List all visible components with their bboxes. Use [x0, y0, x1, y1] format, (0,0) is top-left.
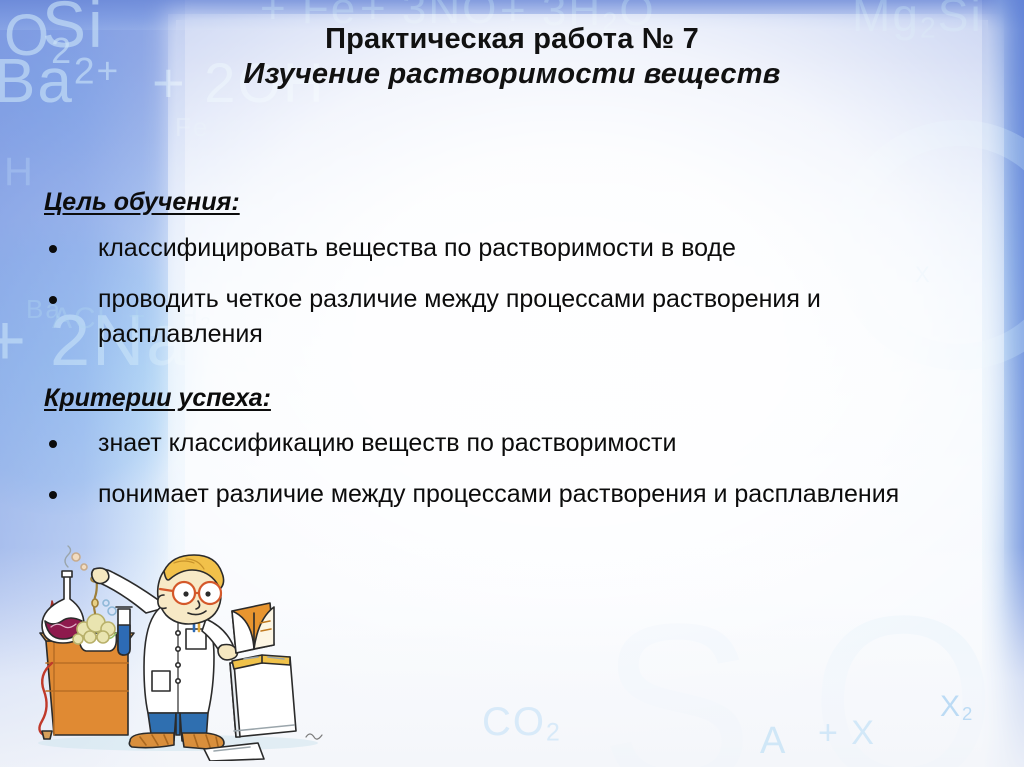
- list-item: знает классификацию веществ по растворим…: [40, 426, 970, 461]
- slide-title: Практическая работа № 7 Изучение раствор…: [0, 22, 1024, 93]
- list-item: проводить четкое различие между процесса…: [40, 282, 970, 352]
- list-item: классифицировать вещества по растворимос…: [40, 231, 970, 266]
- watermark-x2: X2: [940, 690, 974, 725]
- bullet-list-learning-objective: классифицировать вещества по растворимос…: [40, 231, 970, 352]
- section-heading-success-criteria: Критерии успеха:: [44, 382, 970, 415]
- section-heading-learning-objective: Цель обучения:: [44, 186, 970, 219]
- chemist-illustration: [18, 545, 338, 761]
- watermark-plus-x: + X: [818, 714, 876, 753]
- watermark-a-letter: A: [760, 720, 787, 763]
- slide-canvas: Si O2 Ba2+ + 2OH + Fe + 3NO + 3H2O Mg2Si…: [0, 0, 1024, 767]
- title-line-1: Практическая работа № 7: [0, 22, 1024, 57]
- watermark-co2: CO2: [482, 700, 562, 747]
- title-line-2: Изучение растворимости веществ: [0, 57, 1024, 92]
- bullet-list-success-criteria: знает классификацию веществ по растворим…: [40, 426, 970, 512]
- slide-body: Цель обучения: классифицировать вещества…: [40, 186, 970, 528]
- list-item: понимает различие между процессами раств…: [40, 477, 970, 512]
- watermark-h: H: [4, 150, 35, 195]
